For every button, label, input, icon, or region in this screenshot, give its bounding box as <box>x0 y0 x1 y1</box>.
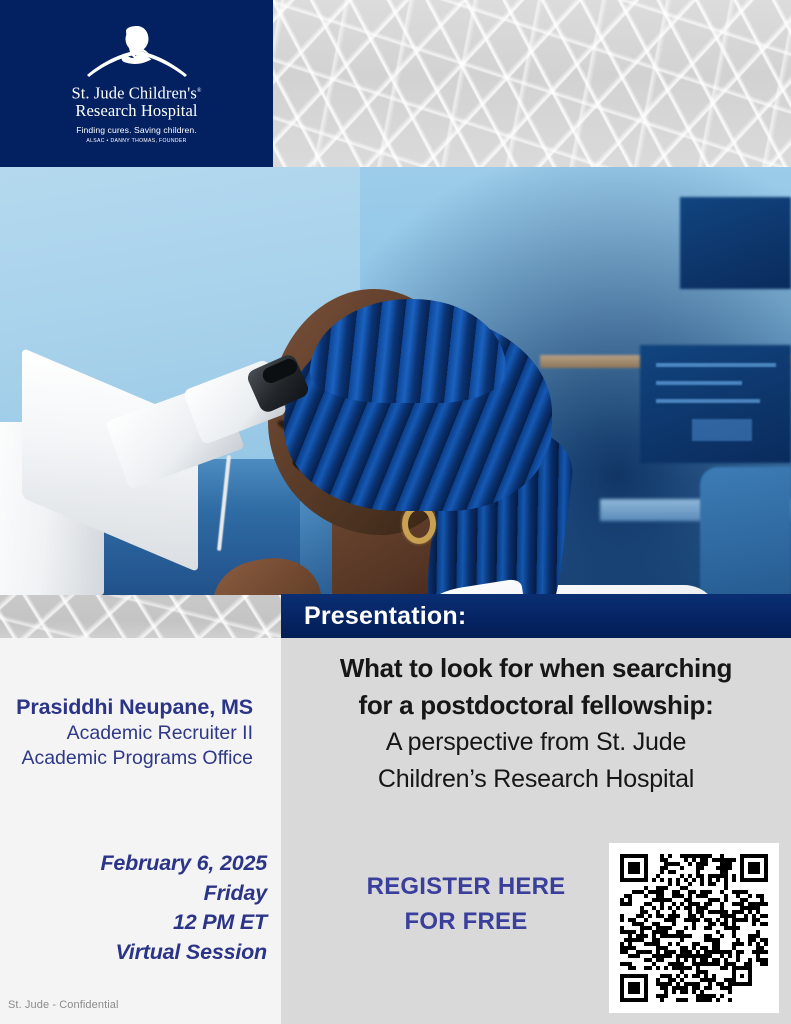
st-jude-child-logo-icon <box>77 20 197 82</box>
subtitle-line-2: Children’s Research Hospital <box>281 761 791 798</box>
register-cta[interactable]: REGISTER HERE FOR FREE <box>341 869 591 939</box>
photo-chair <box>700 467 791 595</box>
confidential-footer: St. Jude - Confidential <box>8 999 119 1011</box>
logo-founder-line: ALSAC • DANNY THOMAS, FOUNDER <box>0 137 273 145</box>
subtitle-line-1: A perspective from St. Jude <box>281 724 791 761</box>
presentation-banner-label: Presentation: <box>304 602 466 631</box>
photo-monitor-line <box>656 381 742 385</box>
title-line-2: for a postdoctoral fellowship: <box>281 687 791 724</box>
event-format: Virtual Session <box>0 938 267 968</box>
logo-name-line2: Research Hospital <box>0 102 273 120</box>
register-cta-line-1: REGISTER HERE <box>341 869 591 904</box>
speaker-office: Academic Programs Office <box>0 746 253 771</box>
speaker-panel: Prasiddhi Neupane, MS Academic Recruiter… <box>0 638 281 1024</box>
title-line-1: What to look for when searching <box>281 650 791 687</box>
event-day: Friday <box>0 879 267 909</box>
speaker-name: Prasiddhi Neupane, MS <box>0 694 253 721</box>
qr-code[interactable] <box>620 854 768 1002</box>
hero-photo-scientist-microscope: 94 ✝ <box>0 167 791 595</box>
speaker-info: Prasiddhi Neupane, MS Academic Recruiter… <box>0 694 253 771</box>
photo-monitor-panel <box>692 419 752 441</box>
qr-code-container[interactable] <box>609 843 779 1013</box>
event-flyer: St. Jude Children's® Research Hospital F… <box>0 0 791 1024</box>
presentation-panel: What to look for when searching for a po… <box>281 638 791 1024</box>
photo-monitor-line <box>656 399 760 403</box>
event-date: February 6, 2025 <box>0 849 267 879</box>
logo-name-line1: St. Jude Children's® <box>0 83 273 102</box>
logo-tagline: Finding cures. Saving children. <box>0 124 273 136</box>
presentation-banner: Presentation: <box>281 594 791 638</box>
speaker-role: Academic Recruiter II <box>0 721 253 746</box>
register-cta-line-2: FOR FREE <box>341 904 591 939</box>
event-details: February 6, 2025 Friday 12 PM ET Virtual… <box>0 849 267 967</box>
photo-monitor-upper-right <box>680 197 791 289</box>
event-time: 12 PM ET <box>0 908 267 938</box>
photo-monitor-line <box>656 363 776 367</box>
fiber-texture-strip <box>0 595 281 638</box>
presentation-title: What to look for when searching for a po… <box>281 650 791 798</box>
st-jude-logo-block: St. Jude Children's® Research Hospital F… <box>0 0 273 167</box>
registered-mark: ® <box>197 88 202 94</box>
header-band: St. Jude Children's® Research Hospital F… <box>0 0 791 167</box>
